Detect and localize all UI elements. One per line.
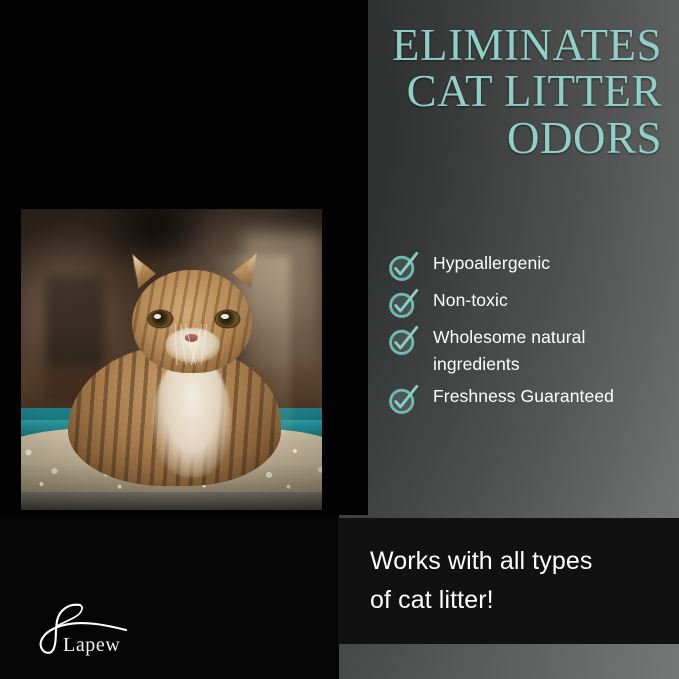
list-item: Wholesome natural ingredients [388,324,673,378]
benefit-label: Non-toxic [433,287,508,314]
headline-line-1: ELIMINATES [300,22,662,68]
photo-vignette [21,209,322,510]
callout-text: Works with all types of cat litter! [370,542,650,620]
benefit-label: Wholesome natural ingredients [433,324,665,378]
list-item: Non-toxic [388,287,673,319]
list-item: Freshness Guaranteed [388,383,673,415]
product-ad-poster: ELIMINATES CAT LITTER ODORS [0,0,679,679]
callout-line-1: Works with all types [370,542,650,581]
brand-name: Lapew [63,634,120,657]
headline-line-2: CAT LITTER [300,68,662,114]
check-circle-icon [388,325,419,356]
photo-scene [21,209,322,510]
check-circle-icon [388,251,419,282]
headline-line-3: ODORS [300,115,662,161]
callout-box: Works with all types of cat litter! [338,518,679,644]
benefits-list: Hypoallergenic Non-toxic Wholesome n [388,250,673,420]
kitten-photo [21,209,322,510]
check-circle-icon [388,384,419,415]
check-circle-icon [388,288,419,319]
headline: ELIMINATES CAT LITTER ODORS [300,22,662,161]
list-item: Hypoallergenic [388,250,673,282]
benefit-label: Hypoallergenic [433,250,550,277]
benefit-label: Freshness Guaranteed [433,383,614,410]
callout-line-2: of cat litter! [370,581,650,620]
brand-logo: Lapew [26,602,166,664]
